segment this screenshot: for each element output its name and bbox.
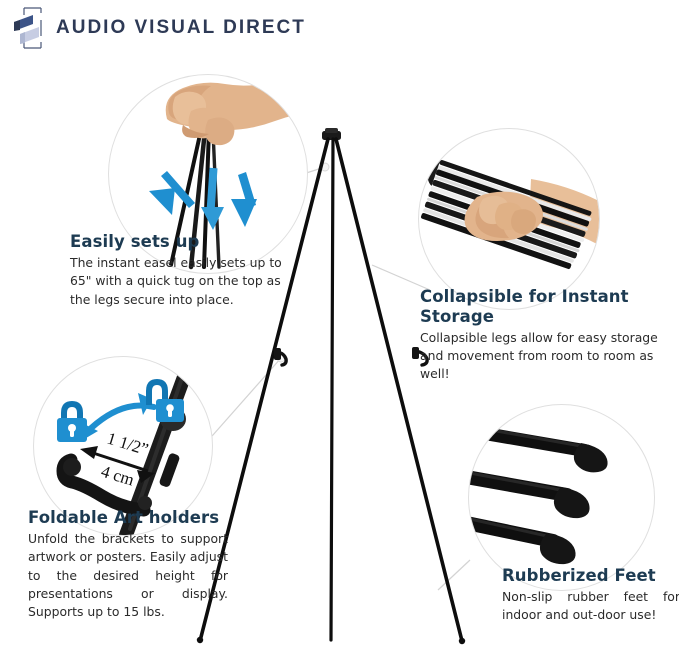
hand-graphic <box>166 75 307 145</box>
illustration-collapsible-storage <box>418 128 600 310</box>
apex-cap <box>322 128 341 140</box>
brand-header: AUDIO VISUAL DIRECT <box>10 6 306 50</box>
feature-easily-sets-up: Easily sets up The instant easel easily … <box>70 232 285 309</box>
dimension-imperial-label: 1 1/2” <box>105 429 151 459</box>
feature-title: Foldable Art holders <box>28 508 228 528</box>
art-holder-bracket-left <box>274 348 286 365</box>
feature-rubberized-feet: Rubberized Feet Non-slip rubber feet for… <box>502 566 679 625</box>
illustration-rubber-feet <box>468 404 655 591</box>
feature-body: The instant easel easily sets up to 65" … <box>70 254 285 309</box>
av-direct-logo-icon <box>10 6 52 50</box>
feature-body: Non-slip rubber feet for indoor and out-… <box>502 588 679 625</box>
leg-with-rubber-tip <box>469 517 576 564</box>
down-arrow-icon <box>231 172 257 227</box>
feature-title: Easily sets up <box>70 232 285 252</box>
feature-title: Collapsible for Instant Storage <box>420 287 675 327</box>
feature-foldable-art-holders: Foldable Art holders Unfold the brackets… <box>28 508 228 622</box>
feature-collapsible-storage: Collapsible for Instant Storage Collapsi… <box>420 287 675 384</box>
brand-name: AUDIO VISUAL DIRECT <box>56 17 306 39</box>
center-leg <box>331 139 333 640</box>
leg-with-rubber-tip <box>469 471 590 518</box>
feature-title: Rubberized Feet <box>502 566 679 586</box>
feature-body: Unfold the brackets to support artwork o… <box>28 530 228 622</box>
leg-with-rubber-tip <box>469 425 608 472</box>
feature-body: Collapsible legs allow for easy storage … <box>420 329 675 384</box>
dimension-arrow-left <box>80 446 98 459</box>
lock-closed-icon <box>57 401 87 442</box>
infographic-canvas: AUDIO VISUAL DIRECT <box>0 0 679 651</box>
